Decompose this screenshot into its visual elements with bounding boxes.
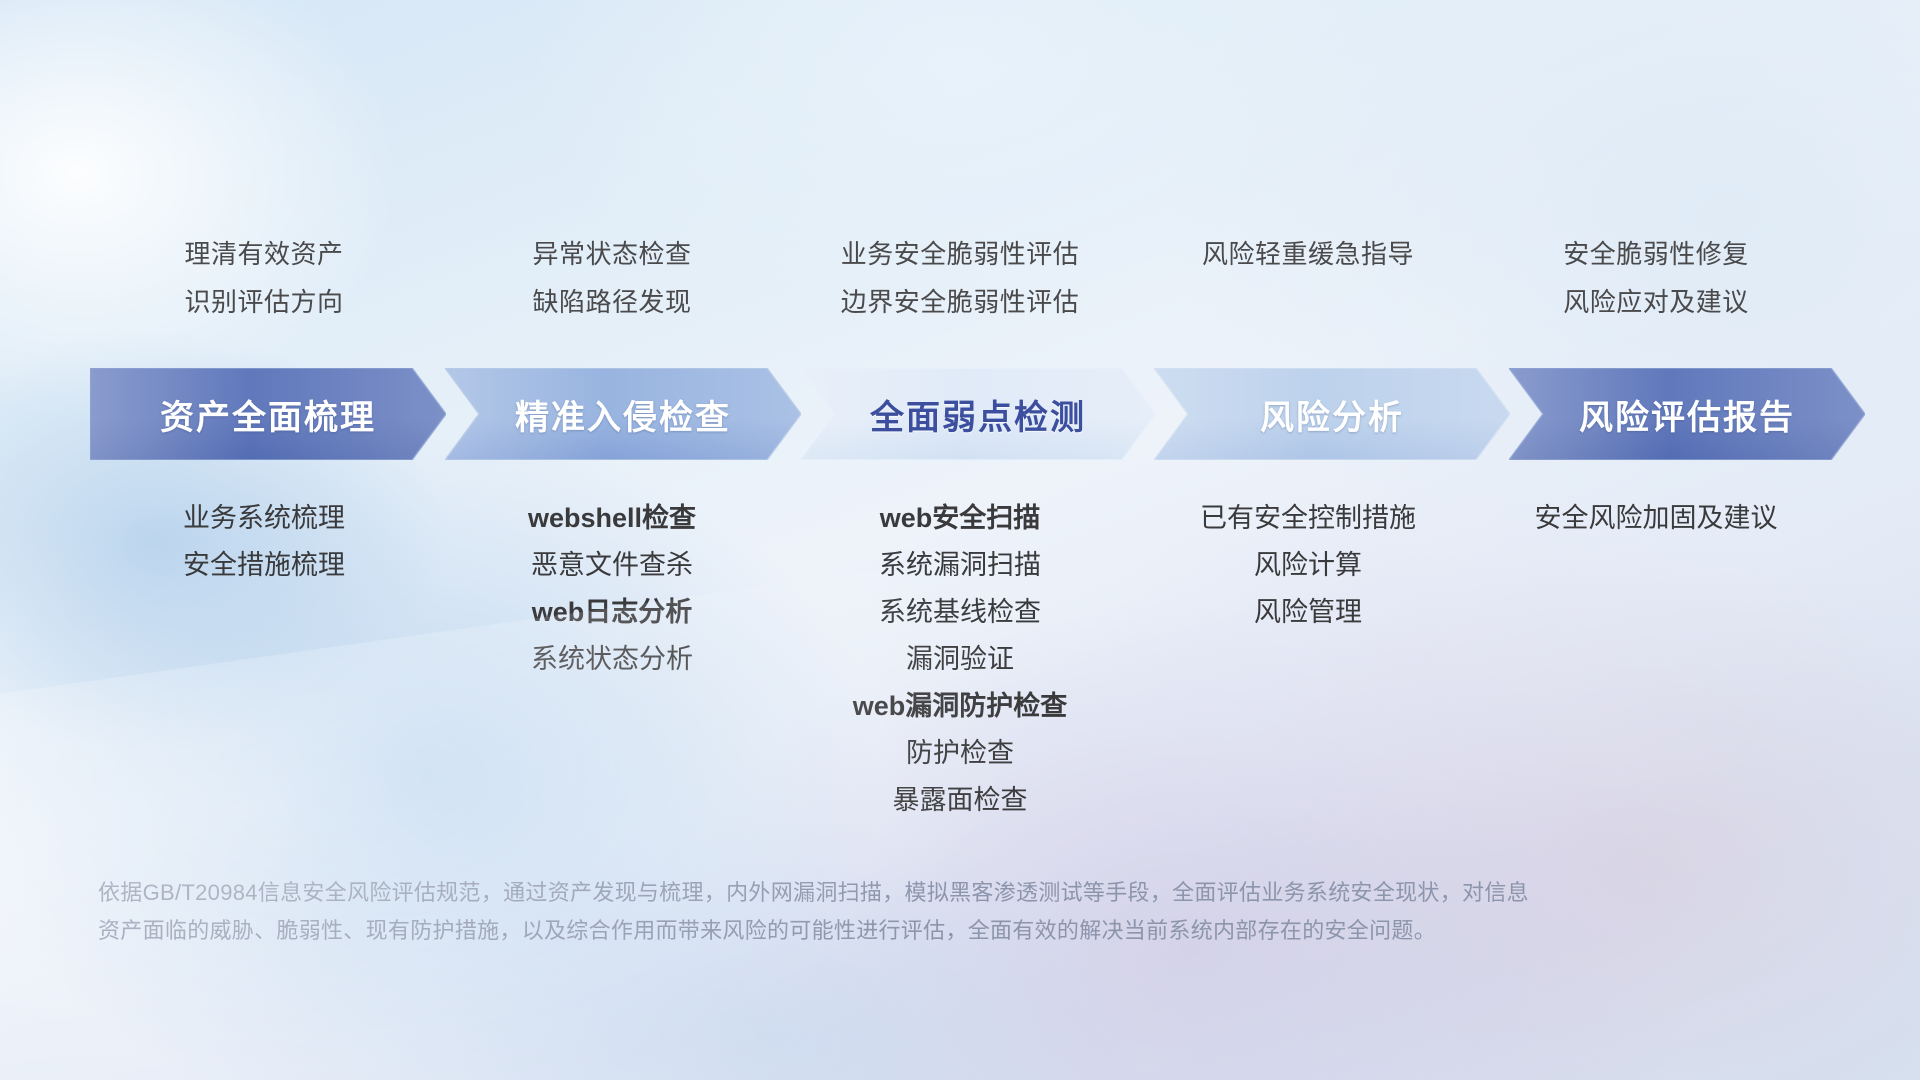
chevron-stage-risk-analysis[interactable]: 风险分析 <box>1154 368 1510 460</box>
list-item: 风险计算 <box>1134 542 1482 589</box>
list-item: 安全措施梳理 <box>90 542 438 589</box>
chevron-stage-assessment-report[interactable]: 风险评估报告 <box>1509 368 1865 460</box>
chevron-label: 全面弱点检测 <box>870 390 1086 439</box>
note-line: 安全脆弱性修复 <box>1482 230 1830 278</box>
footer-line-2: 资产面临的威胁、脆弱性、现有防护措施，以及综合作用而带来风险的可能性进行评估，全… <box>98 912 1618 950</box>
note-line: 缺陷路径发现 <box>438 278 786 326</box>
list-item: 防护检查 <box>786 730 1134 777</box>
footer-description: 依据GB/T20984信息安全风险评估规范，通过资产发现与梳理，内外网漏洞扫描，… <box>98 874 1618 950</box>
items-column-risk-analysis: 已有安全控制措施风险计算风险管理 <box>1134 495 1482 636</box>
note-line: 理清有效资产 <box>90 230 438 278</box>
bottom-lists-row: 业务系统梳理安全措施梳理 webshell检查恶意文件查杀web日志分析系统状态… <box>90 495 1830 824</box>
note-line: 识别评估方向 <box>90 278 438 326</box>
note-line: 边界安全脆弱性评估 <box>786 278 1134 326</box>
notes-column-asset-inventory: 理清有效资产识别评估方向 <box>90 230 438 326</box>
items-column-intrusion-check: webshell检查恶意文件查杀web日志分析系统状态分析 <box>438 495 786 683</box>
top-notes-row: 理清有效资产识别评估方向 异常状态检查缺陷路径发现 业务安全脆弱性评估边界安全脆… <box>90 230 1830 326</box>
slide-canvas: 理清有效资产识别评估方向 异常状态检查缺陷路径发现 业务安全脆弱性评估边界安全脆… <box>0 0 1920 1080</box>
list-item: 暴露面检查 <box>786 777 1134 824</box>
footer-line-1: 依据GB/T20984信息安全风险评估规范，通过资产发现与梳理，内外网漏洞扫描，… <box>98 874 1618 912</box>
list-item: web日志分析 <box>438 589 786 636</box>
list-item: web漏洞防护检查 <box>786 683 1134 730</box>
list-item: 系统漏洞扫描 <box>786 542 1134 589</box>
list-item: 安全风险加固及建议 <box>1482 495 1830 542</box>
note-line: 业务安全脆弱性评估 <box>786 230 1134 278</box>
chevron-stage-asset-inventory[interactable]: 资产全面梳理 <box>90 368 446 460</box>
items-column-asset-inventory: 业务系统梳理安全措施梳理 <box>90 495 438 589</box>
process-chevron-banner: 资产全面梳理精准入侵检查全面弱点检测风险分析风险评估报告 <box>90 368 1836 460</box>
note-line: 风险轻重缓急指导 <box>1134 230 1482 278</box>
items-column-weakness-detection: web安全扫描系统漏洞扫描系统基线检查漏洞验证web漏洞防护检查防护检查暴露面检… <box>786 495 1134 824</box>
list-item: 系统状态分析 <box>438 636 786 683</box>
items-column-assessment-report: 安全风险加固及建议 <box>1482 495 1830 542</box>
notes-column-risk-analysis: 风险轻重缓急指导 <box>1134 230 1482 326</box>
notes-column-assessment-report: 安全脆弱性修复风险应对及建议 <box>1482 230 1830 326</box>
chevron-stage-weakness-detection[interactable]: 全面弱点检测 <box>800 368 1156 460</box>
chevron-label: 风险分析 <box>1260 390 1404 439</box>
list-item: 恶意文件查杀 <box>438 542 786 589</box>
list-item: 已有安全控制措施 <box>1134 495 1482 542</box>
list-item: web安全扫描 <box>786 495 1134 542</box>
list-item: 风险管理 <box>1134 589 1482 636</box>
notes-column-intrusion-check: 异常状态检查缺陷路径发现 <box>438 230 786 326</box>
list-item: 漏洞验证 <box>786 636 1134 683</box>
chevron-label: 风险评估报告 <box>1579 390 1795 439</box>
note-line: 风险应对及建议 <box>1482 278 1830 326</box>
notes-column-weakness-detection: 业务安全脆弱性评估边界安全脆弱性评估 <box>786 230 1134 326</box>
chevron-stage-intrusion-check[interactable]: 精准入侵检查 <box>445 368 801 460</box>
chevron-label: 精准入侵检查 <box>515 390 731 439</box>
list-item: webshell检查 <box>438 495 786 542</box>
chevron-label: 资产全面梳理 <box>160 390 376 439</box>
list-item: 业务系统梳理 <box>90 495 438 542</box>
list-item: 系统基线检查 <box>786 589 1134 636</box>
note-line: 异常状态检查 <box>438 230 786 278</box>
